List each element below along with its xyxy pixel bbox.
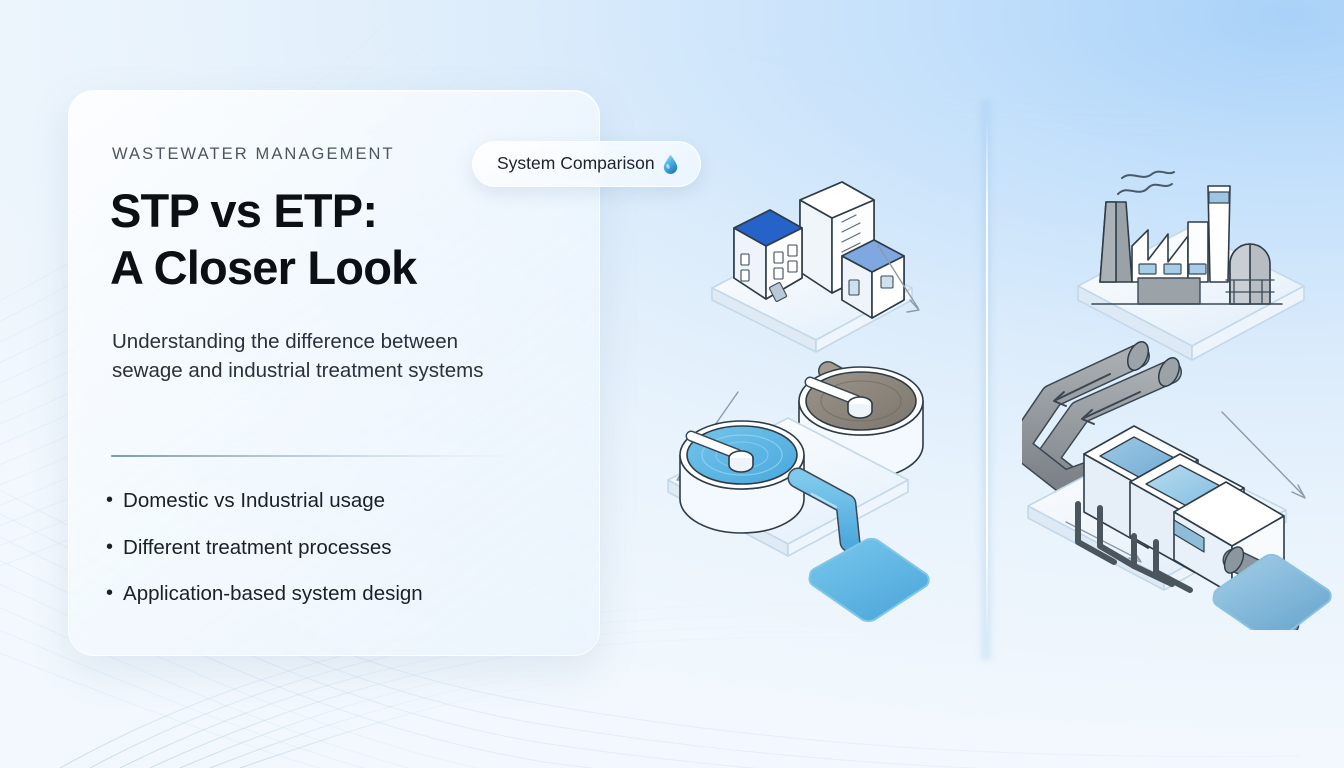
bullet-marker-icon: • [106, 581, 113, 606]
title-line-2: A Closer Look [110, 240, 580, 297]
list-item-label: Domestic vs Industrial usage [123, 488, 385, 514]
list-item: • Different treatment processes [106, 535, 556, 561]
stp-discharge-pool [809, 539, 928, 621]
title-line-1: STP vs ETP: [110, 184, 377, 237]
system-comparison-badge[interactable]: System Comparison [472, 141, 701, 187]
list-item-label: Application-based system design [123, 581, 423, 607]
poster-canvas: WASTEWATER MANAGEMENT STP vs ETP: A Clos… [0, 0, 1344, 768]
eyebrow-label: WASTEWATER MANAGEMENT [112, 145, 395, 164]
subtitle-text: Understanding the difference between sew… [112, 327, 512, 385]
list-item: • Domestic vs Industrial usage [106, 488, 556, 514]
stp-secondary-clarifier [680, 421, 804, 533]
list-item: • Application-based system design [106, 581, 556, 607]
stp-illustration [660, 160, 990, 630]
etp-illustration [1022, 160, 1342, 630]
bullet-marker-icon: • [106, 535, 113, 560]
page-title: STP vs ETP: A Closer Look [110, 183, 580, 297]
list-item-label: Different treatment processes [123, 535, 392, 561]
key-points-list: • Domestic vs Industrial usage • Differe… [106, 488, 556, 628]
card-divider [111, 455, 519, 457]
water-drop-icon [663, 154, 678, 174]
bullet-marker-icon: • [106, 488, 113, 513]
badge-label: System Comparison [497, 153, 655, 174]
